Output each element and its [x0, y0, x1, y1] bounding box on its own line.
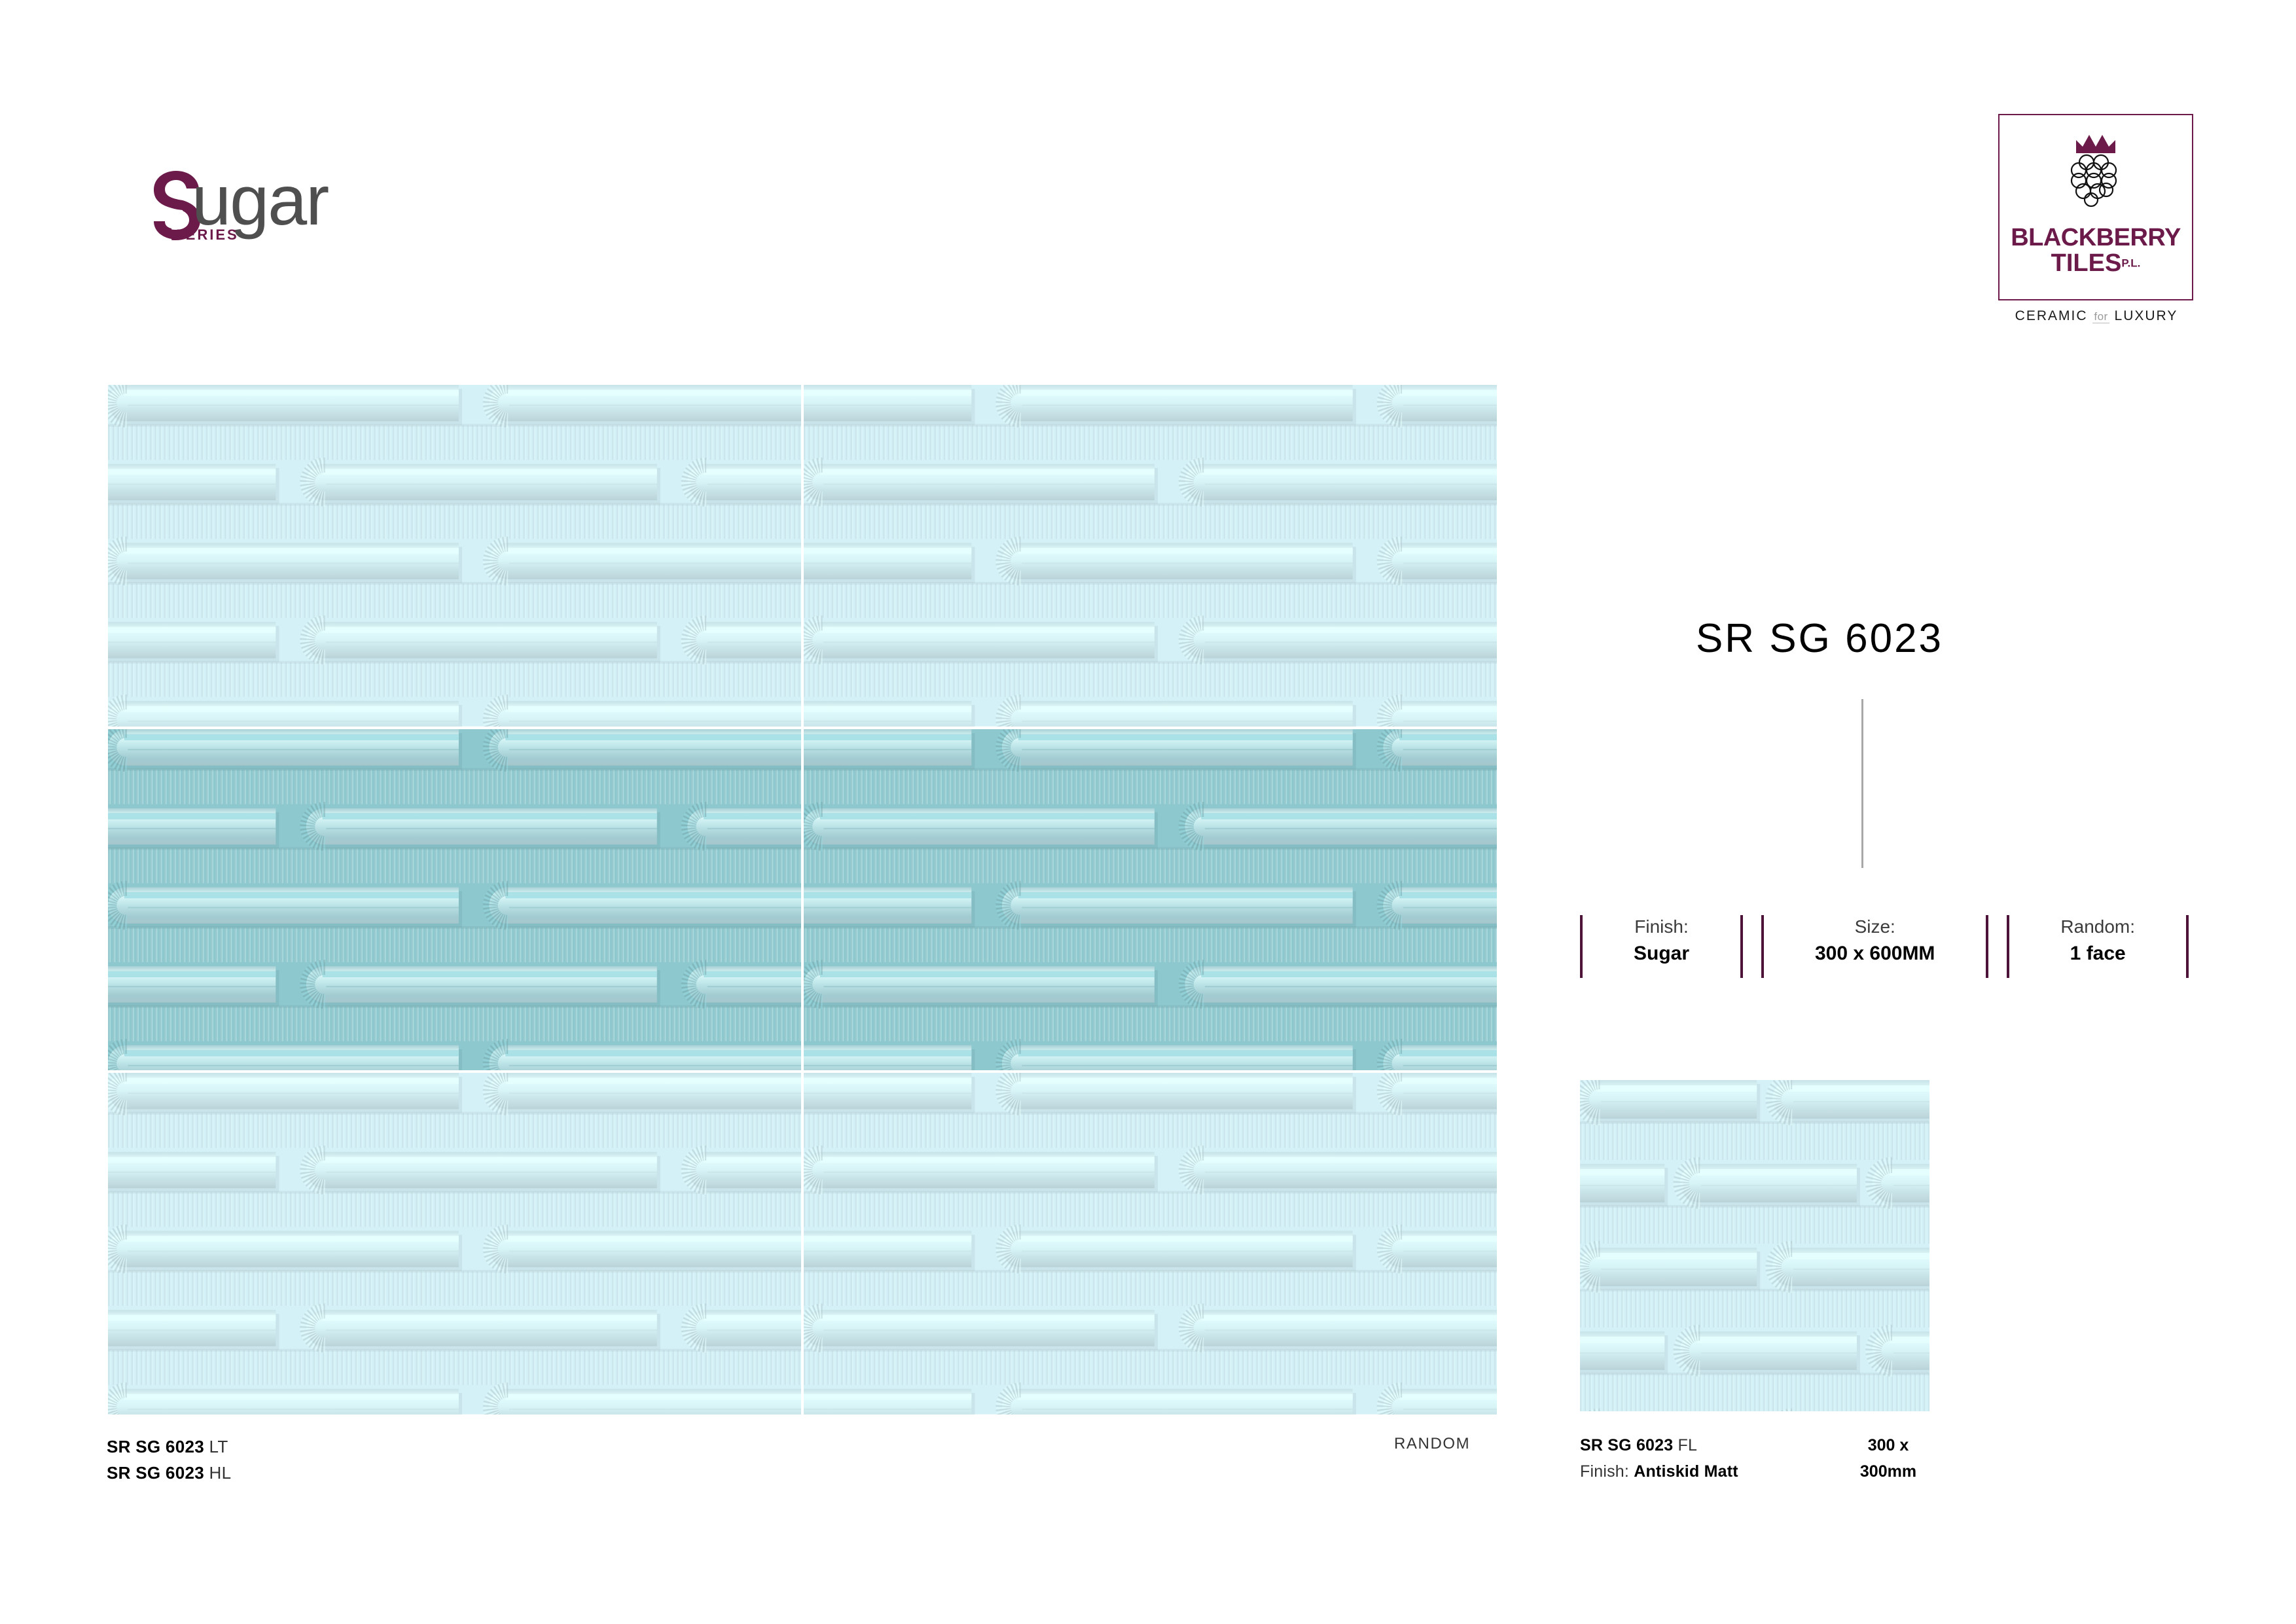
tile-pattern	[108, 385, 801, 727]
spec-gap-2	[1988, 915, 2007, 978]
brand-line-2: TILES	[2051, 251, 2122, 276]
wall-tile-caption: SR SG 6023 LT SR SG 6023 HL	[107, 1434, 231, 1487]
brand-wordmark: BLACKBERRY TILESP.L.	[2000, 225, 2192, 276]
wall-caption-line-2: SR SG 6023 HL	[107, 1460, 231, 1486]
wall-tile-r2c2	[804, 729, 1497, 1071]
logo-s-lower	[154, 221, 171, 239]
spec-row: Finish: Sugar Size: 300 x 600MM Random: …	[1580, 915, 2189, 978]
berry-cluster	[2072, 155, 2116, 206]
floor-size-line-1: 300 x	[1826, 1432, 1950, 1458]
spec-block-finish: Finish: Sugar	[1583, 915, 1740, 978]
random-label: RANDOM	[1394, 1435, 1470, 1453]
crown-shape	[2076, 135, 2115, 153]
tile-pattern	[1580, 1080, 1929, 1411]
floor-finish-label: Finish:	[1580, 1462, 1629, 1481]
floor-caption-code: SR SG 6023	[1580, 1436, 1673, 1454]
brand-logo: BLACKBERRY TILESP.L. CERAMIC for LUXURY	[1998, 114, 2195, 323]
brand-tagline: CERAMIC for LUXURY	[1998, 308, 2195, 324]
floor-size-line-2: 300mm	[1826, 1458, 1950, 1485]
floor-tile-caption: SR SG 6023 FL Finish: Antiskid Matt	[1580, 1432, 1738, 1485]
wall-caption-suffix-2: HL	[209, 1463, 232, 1483]
wall-tile-r1c2	[804, 385, 1497, 727]
wall-tile-r3c1	[108, 1073, 801, 1415]
brand-logo-box: BLACKBERRY TILESP.L.	[1998, 114, 2193, 300]
tagline-right: LUXURY	[2115, 308, 2178, 323]
tile-pattern	[804, 385, 1497, 727]
product-code: SR SG 6023	[1558, 615, 2081, 662]
tagline-left: CERAMIC	[2015, 308, 2088, 323]
wall-caption-line-1: SR SG 6023 LT	[107, 1434, 231, 1460]
floor-tile-swatch	[1580, 1080, 1929, 1411]
brand-suffix: P.L.	[2121, 257, 2140, 269]
tile-pattern	[108, 1073, 801, 1415]
spec-bar-5	[2186, 915, 2189, 978]
tagline-for: for	[2092, 310, 2109, 323]
wall-tile-r1c1	[108, 385, 801, 727]
spec-gap-1	[1743, 915, 1761, 978]
spec-label-finish: Finish:	[1634, 915, 1688, 938]
spec-value-random: 1 face	[2070, 941, 2126, 966]
wall-caption-suffix-1: LT	[209, 1437, 228, 1456]
wall-tile-r2c1	[108, 729, 801, 1071]
wall-tile-r3c2	[804, 1073, 1497, 1415]
spec-label-random: Random:	[2060, 915, 2135, 938]
spec-label-size: Size:	[1855, 915, 1895, 938]
brand-line-1: BLACKBERRY	[2000, 225, 2192, 251]
wall-caption-code-1: SR SG 6023	[107, 1437, 204, 1456]
spec-block-size: Size: 300 x 600MM	[1764, 915, 1986, 978]
floor-tile-size: 300 x 300mm	[1826, 1432, 1950, 1485]
wall-tile-grid	[108, 385, 1497, 1415]
tile-pattern	[804, 729, 1497, 1071]
spec-value-finish: Sugar	[1634, 941, 1689, 966]
floor-caption-suffix: FL	[1678, 1436, 1698, 1454]
blackberry-crown-icon	[2060, 131, 2131, 219]
tile-pattern	[804, 1073, 1497, 1415]
logo-series-text: SERIES	[174, 226, 239, 243]
brand-line-2-wrap: TILESP.L.	[2000, 251, 2192, 276]
sugar-logo-artwork: ugar SERIES	[107, 149, 382, 261]
sugar-series-logo: ugar SERIES	[107, 149, 382, 261]
spec-value-size: 300 x 600MM	[1815, 941, 1935, 966]
wall-caption-code-2: SR SG 6023	[107, 1463, 204, 1483]
code-connector-line	[1861, 699, 1863, 868]
floor-finish-value: Antiskid Matt	[1634, 1462, 1738, 1481]
floor-caption-line-2: Finish: Antiskid Matt	[1580, 1458, 1738, 1485]
floor-caption-line-1: SR SG 6023 FL	[1580, 1432, 1738, 1458]
tile-pattern	[108, 729, 801, 1071]
spec-block-random: Random: 1 face	[2009, 915, 2186, 978]
